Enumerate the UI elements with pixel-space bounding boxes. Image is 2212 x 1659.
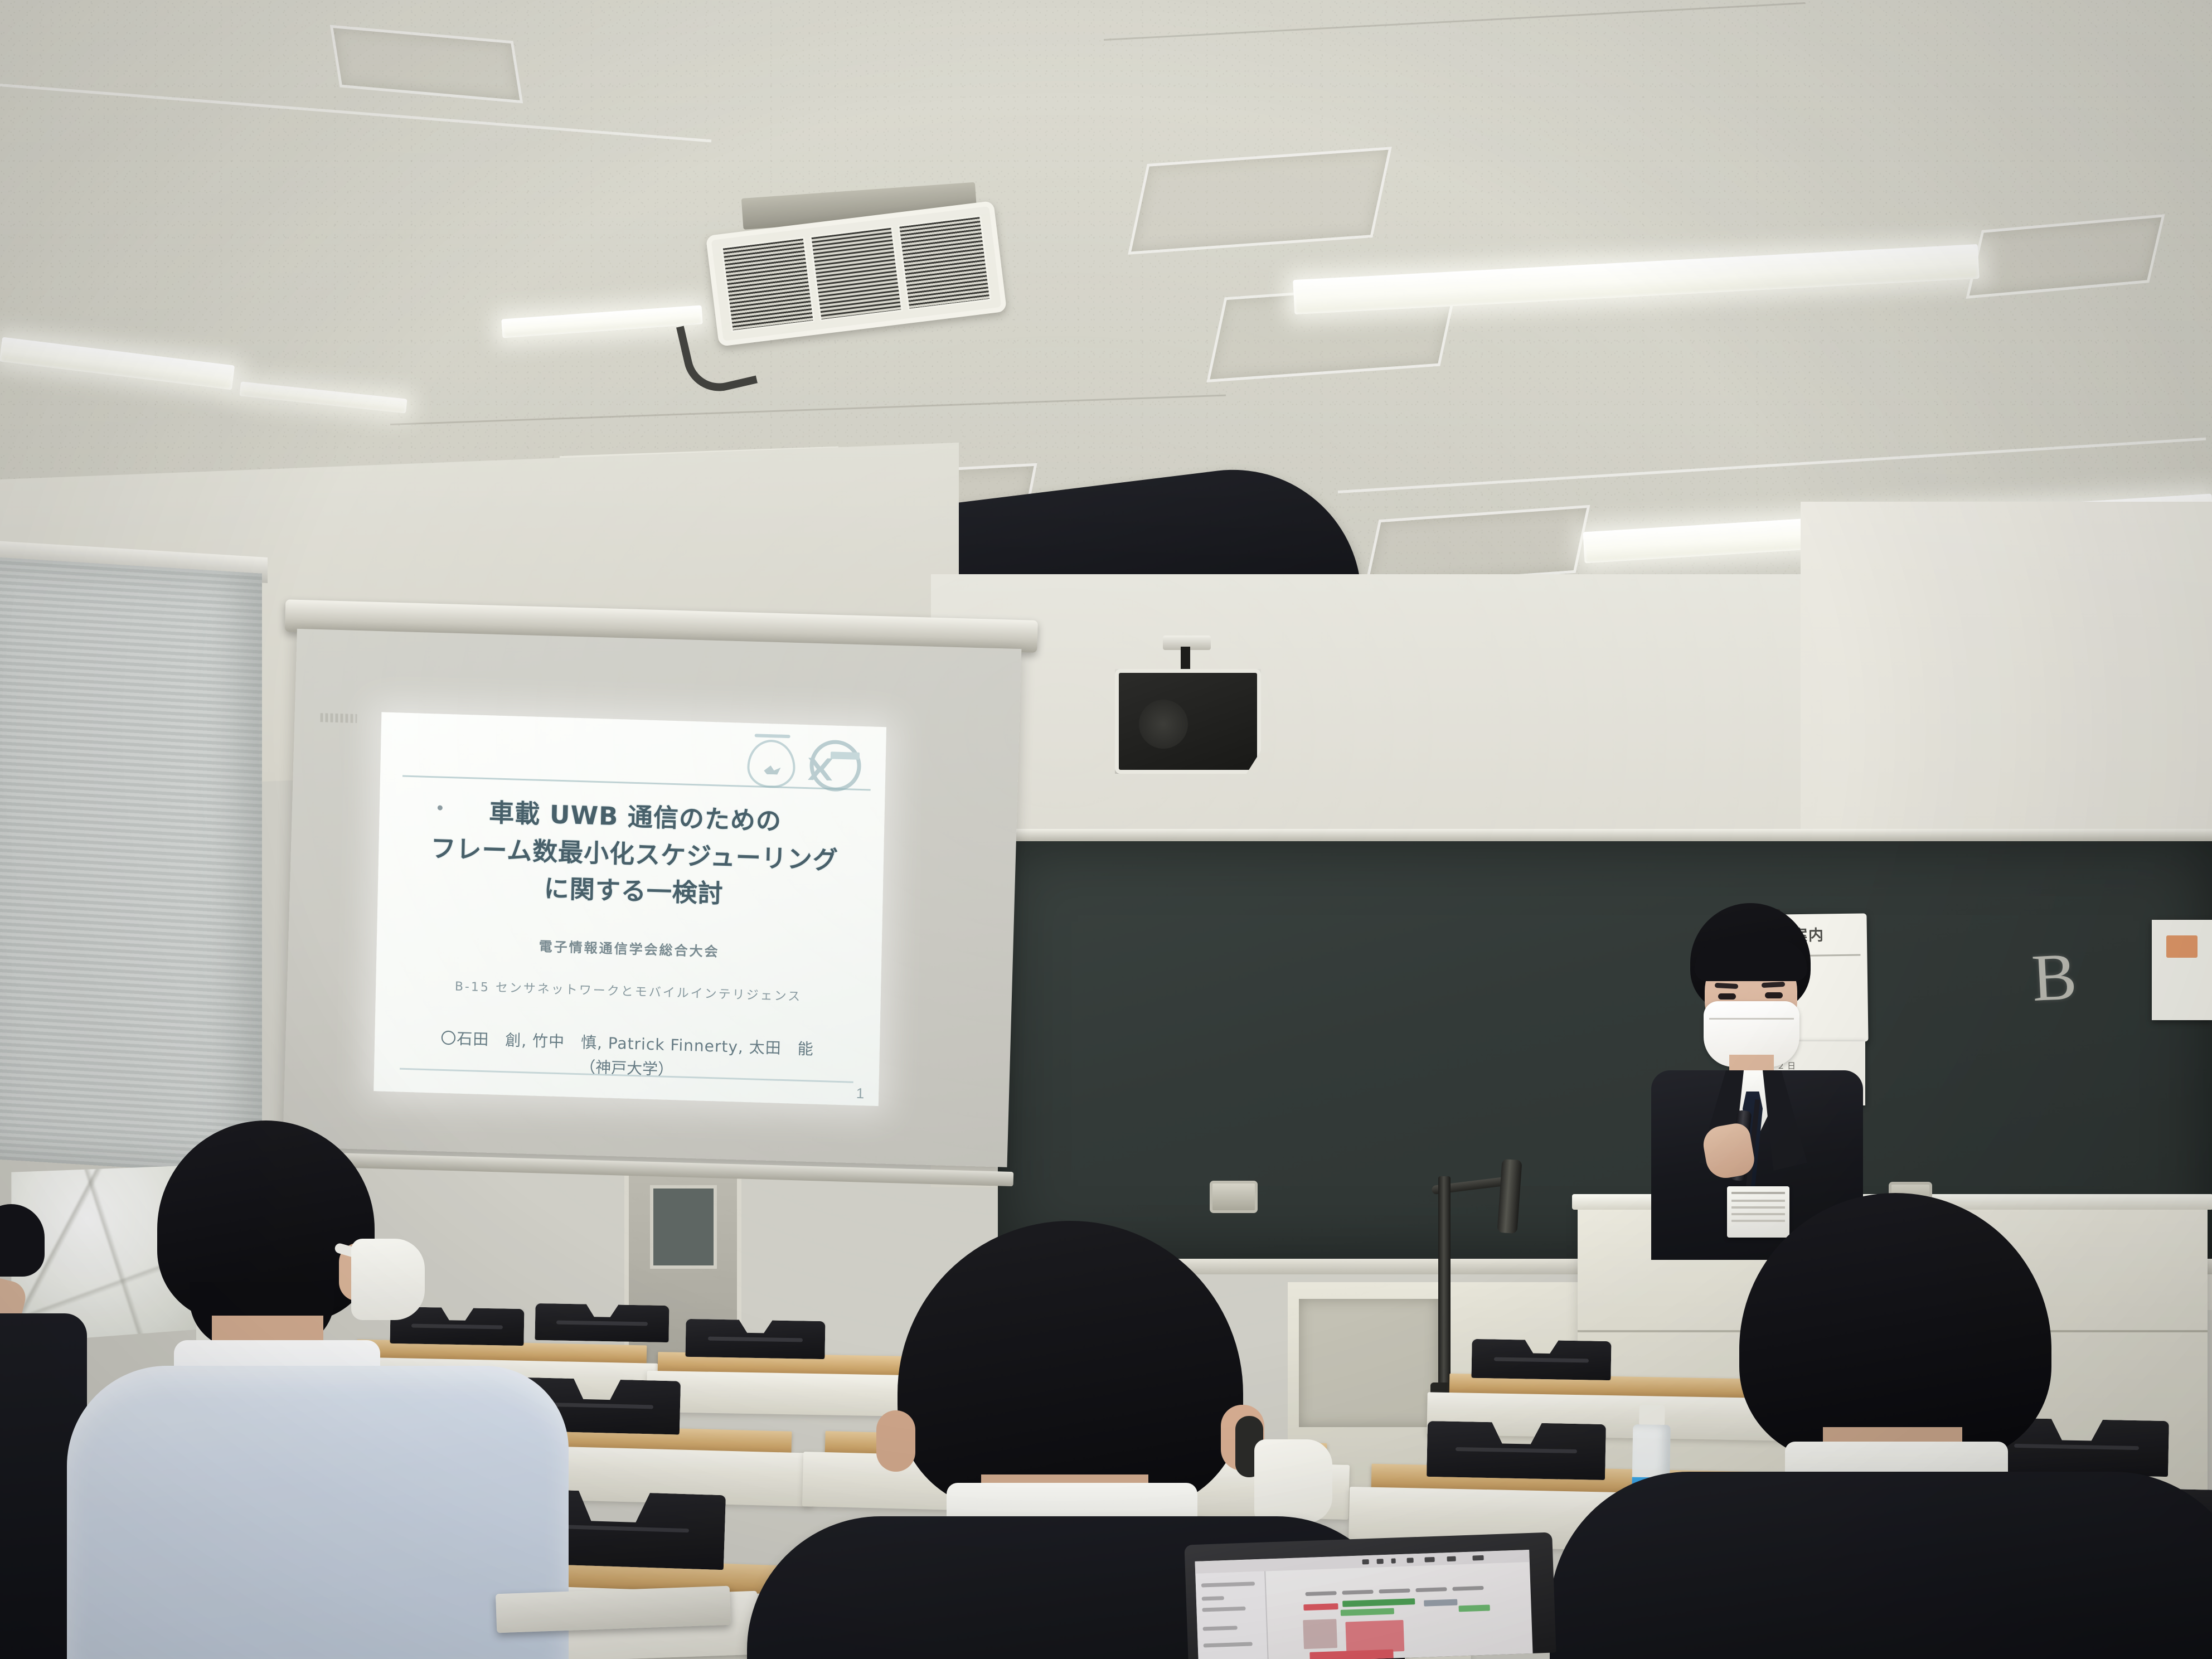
screen-brand-mark — [320, 713, 357, 723]
column-header — [1342, 1590, 1373, 1595]
sidebar-row — [1202, 1607, 1245, 1612]
slide-logo-group — [747, 738, 862, 792]
presenter-eye — [1718, 993, 1736, 1000]
circle-x-emblem-icon — [809, 739, 862, 792]
toolbar-icon[interactable] — [1406, 1558, 1413, 1563]
projected-slide: 車載 UWB 通信のための フレーム数最小化スケジューリング に関する一検討 電… — [373, 712, 886, 1106]
toolbar-icon[interactable] — [1447, 1556, 1456, 1562]
sidebar-row — [1202, 1596, 1224, 1600]
ceiling-access-hatch — [1128, 147, 1392, 255]
toolbar-icon[interactable] — [1362, 1559, 1369, 1564]
toolbar-icon[interactable] — [1472, 1555, 1483, 1561]
poster-graphic — [2166, 935, 2198, 958]
slide-session-name: B-15 センサネットワークとモバイルインテリジェンス — [376, 974, 881, 1007]
slide-page-number: 1 — [856, 1085, 864, 1102]
wall-speaker-icon — [1115, 669, 1261, 774]
closed-laptop[interactable] — [496, 1586, 731, 1633]
window-blinds[interactable] — [0, 557, 262, 1176]
audience-member-front-left — [72, 1120, 574, 1659]
schedule-bar — [1303, 1603, 1338, 1611]
blackboard-chalk-text: B — [2030, 938, 2078, 1017]
audience-dress-shirt — [67, 1366, 569, 1659]
laptop-screen[interactable] — [1195, 1550, 1532, 1659]
presenter-eye — [1765, 992, 1783, 998]
grille-pane — [898, 215, 991, 311]
column-header — [1415, 1587, 1447, 1592]
face-mask-icon — [351, 1239, 425, 1320]
schedule-block — [1345, 1620, 1404, 1653]
projection-screen-assembly: 車載 UWB 通信のための フレーム数最小化スケジューリング に関する一検討 電… — [283, 609, 1028, 1175]
toolbar-icon[interactable] — [1391, 1558, 1395, 1563]
sidebar-panel — [1195, 1571, 1269, 1659]
schedule-block — [1309, 1650, 1394, 1659]
toolbar-icon[interactable] — [1424, 1557, 1434, 1563]
column-header — [1452, 1586, 1483, 1591]
door-window — [650, 1185, 717, 1269]
audience-laptop[interactable] — [1184, 1532, 1556, 1659]
audience-hair — [1739, 1193, 2051, 1461]
schedule-bar — [1424, 1599, 1457, 1607]
column-header — [1379, 1588, 1410, 1593]
presenter-fringe — [1695, 940, 1807, 981]
schedule-bar — [1459, 1605, 1490, 1612]
audience-ear — [876, 1410, 915, 1472]
schedule-bar — [1342, 1598, 1415, 1607]
face-mask-icon — [1254, 1439, 1332, 1523]
audience-head — [0, 1204, 45, 1277]
kobe-university-emblem-icon — [747, 739, 796, 789]
schedule-block — [1303, 1619, 1337, 1649]
ceiling-air-conditioner — [706, 201, 1023, 474]
schedule-bar — [1341, 1608, 1394, 1616]
sidebar-row — [1201, 1582, 1255, 1587]
slide-conference-name: 電子情報通信学会総合大会 — [376, 930, 881, 965]
lecture-hall-photo: B 〇〇の案内 時：１２日 所：１号館 受付 時：１２日 — [0, 0, 2212, 1659]
grille-pane — [721, 237, 814, 332]
slide-title: 車載 UWB 通信のための フレーム数最小化スケジューリング に関する一検討 — [400, 792, 869, 918]
wall-poster — [2152, 920, 2212, 1020]
audience-member-front-right — [1639, 1193, 2196, 1659]
microphone-stand[interactable] — [1438, 1176, 1451, 1394]
toolbar-icon[interactable] — [1377, 1559, 1384, 1564]
sidebar-row — [1203, 1626, 1238, 1631]
lectern-handle[interactable] — [1210, 1181, 1258, 1213]
blackboard-rail — [990, 829, 2212, 841]
sidebar-row — [1204, 1642, 1253, 1647]
audience-suit-jacket — [1550, 1472, 2212, 1659]
grille-pane — [809, 226, 903, 321]
audience-hair — [898, 1221, 1243, 1511]
column-header — [1306, 1591, 1337, 1596]
